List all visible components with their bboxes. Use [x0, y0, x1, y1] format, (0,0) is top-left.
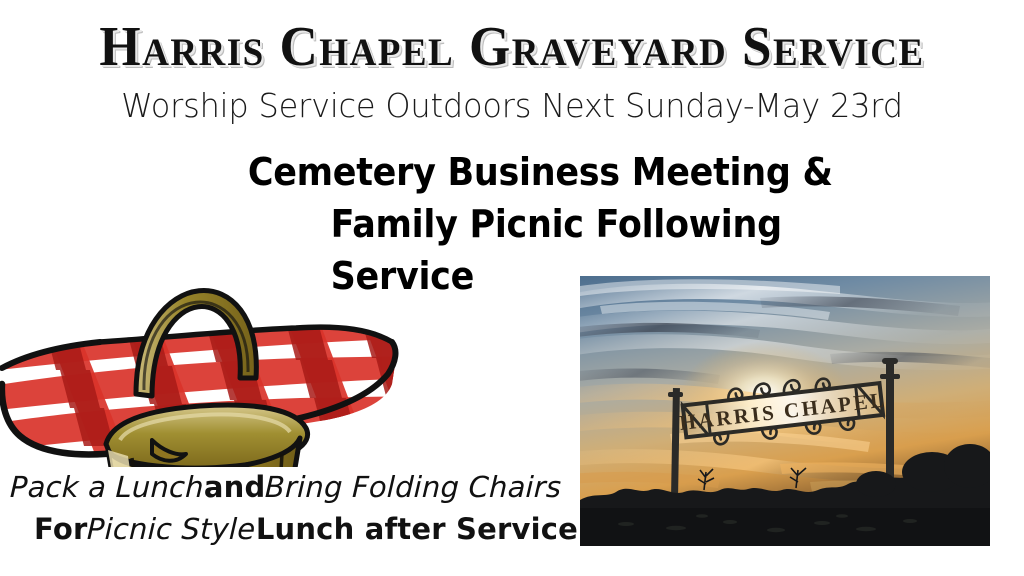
page-title: Harris Chapel Graveyard Service	[0, 16, 1024, 77]
poster-canvas: Harris Chapel Graveyard Service Worship …	[0, 0, 1024, 576]
cemetery-gate-photo: HARRIS CHAPEL	[580, 276, 990, 546]
footer-line-1-part3: Bring Folding Chairs	[265, 466, 563, 508]
footer-line-2-bold2: Lunch after Service	[256, 512, 578, 546]
footer-line-2-part2: Picnic Style	[87, 508, 257, 550]
subtitle: Worship Service Outdoors Next Sunday-May…	[15, 86, 1008, 126]
picnic-basket-illustration	[0, 182, 400, 467]
footer-line-1: Pack a Lunch and Bring Folding Chairs	[8, 466, 568, 508]
photo-foreground	[580, 508, 990, 546]
footer-line-2: For Picnic Style Lunch after Service	[8, 508, 568, 550]
gate-left-post-cap	[668, 392, 683, 397]
gate-right-post-collar	[880, 374, 900, 379]
footer-line-1-bold: and	[204, 470, 266, 504]
footer-text-block: Pack a Lunch and Bring Folding Chairs Fo…	[8, 466, 568, 550]
footer-line-2-bold1: For	[34, 512, 87, 546]
tree-cluster-center	[856, 471, 896, 497]
footer-line-1-part1: Pack a Lunch	[9, 466, 204, 508]
gate-right-post-cap	[882, 358, 898, 364]
